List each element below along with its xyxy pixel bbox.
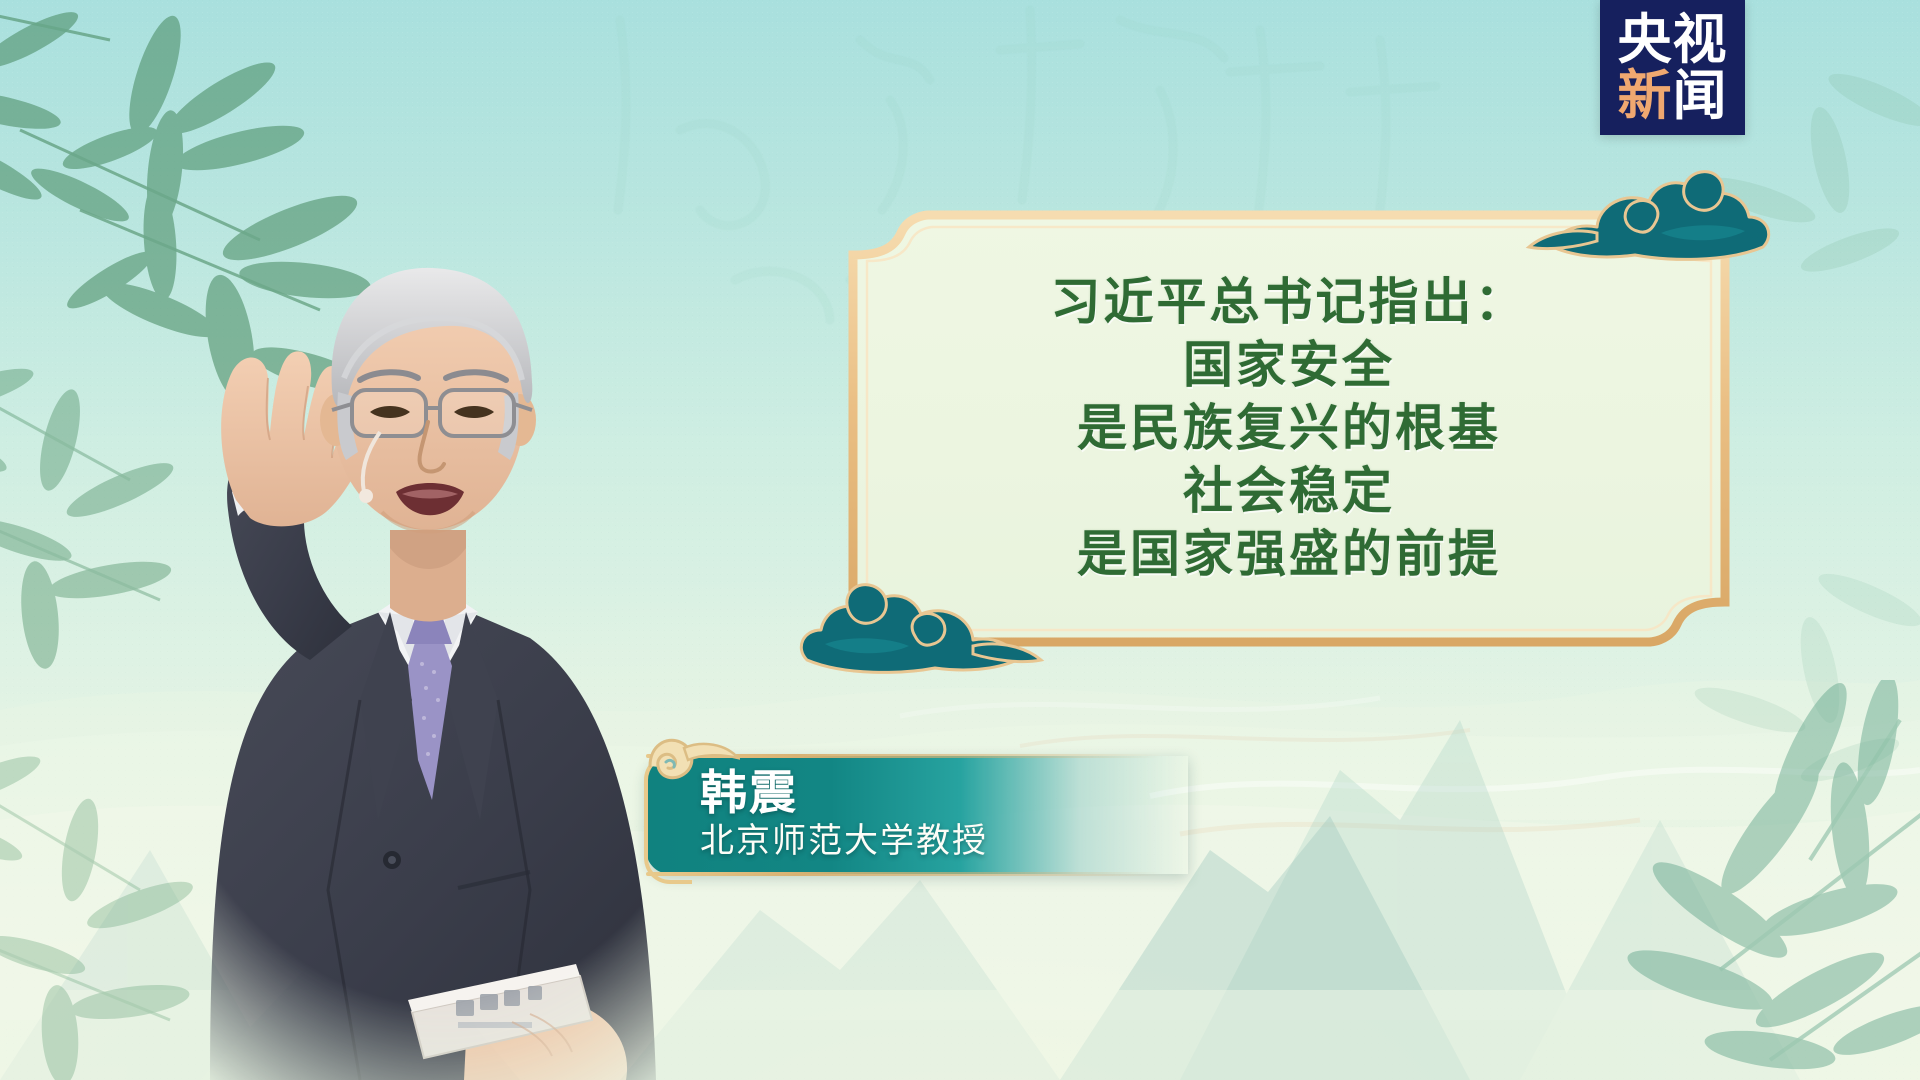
cctv-news-logo: 央 视 新 闻 bbox=[1600, 0, 1745, 135]
nameplate-text: 韩震 北京师范大学教授 bbox=[700, 758, 1170, 872]
speaker-name: 韩震 bbox=[700, 769, 1170, 818]
logo-char-yang: 央 bbox=[1618, 13, 1673, 67]
quote-text-block: 习近平总书记指出： 国家安全 是民族复兴的根基 社会稳定 是国家强盛的前提 bbox=[883, 233, 1695, 624]
quote-line-4: 社会稳定 bbox=[1183, 462, 1395, 521]
broadcast-frame: 习近平总书记指出： 国家安全 是民族复兴的根基 社会稳定 是国家强盛的前提 韩震… bbox=[0, 0, 1920, 1080]
nameplate-border-bottom bbox=[646, 872, 1188, 876]
quote-line-1: 习近平总书记指出： bbox=[1051, 273, 1528, 332]
quote-line-2: 国家安全 bbox=[1183, 336, 1395, 395]
logo-top-row: 央 视 bbox=[1618, 13, 1728, 67]
logo-char-xin: 新 bbox=[1618, 69, 1673, 123]
logo-char-wen: 闻 bbox=[1673, 69, 1728, 123]
quote-line-5: 是国家强盛的前提 bbox=[1077, 525, 1501, 584]
lower-third-nameplate: 韩震 北京师范大学教授 bbox=[628, 742, 1188, 886]
quote-line-3: 是民族复兴的根基 bbox=[1077, 399, 1501, 458]
quote-panel: 习近平总书记指出： 国家安全 是民族复兴的根基 社会稳定 是国家强盛的前提 bbox=[843, 205, 1735, 652]
logo-char-shi: 视 bbox=[1673, 13, 1728, 67]
logo-bottom-row: 新 闻 bbox=[1618, 69, 1728, 123]
speaker-title: 北京师范大学教授 bbox=[700, 822, 1170, 861]
